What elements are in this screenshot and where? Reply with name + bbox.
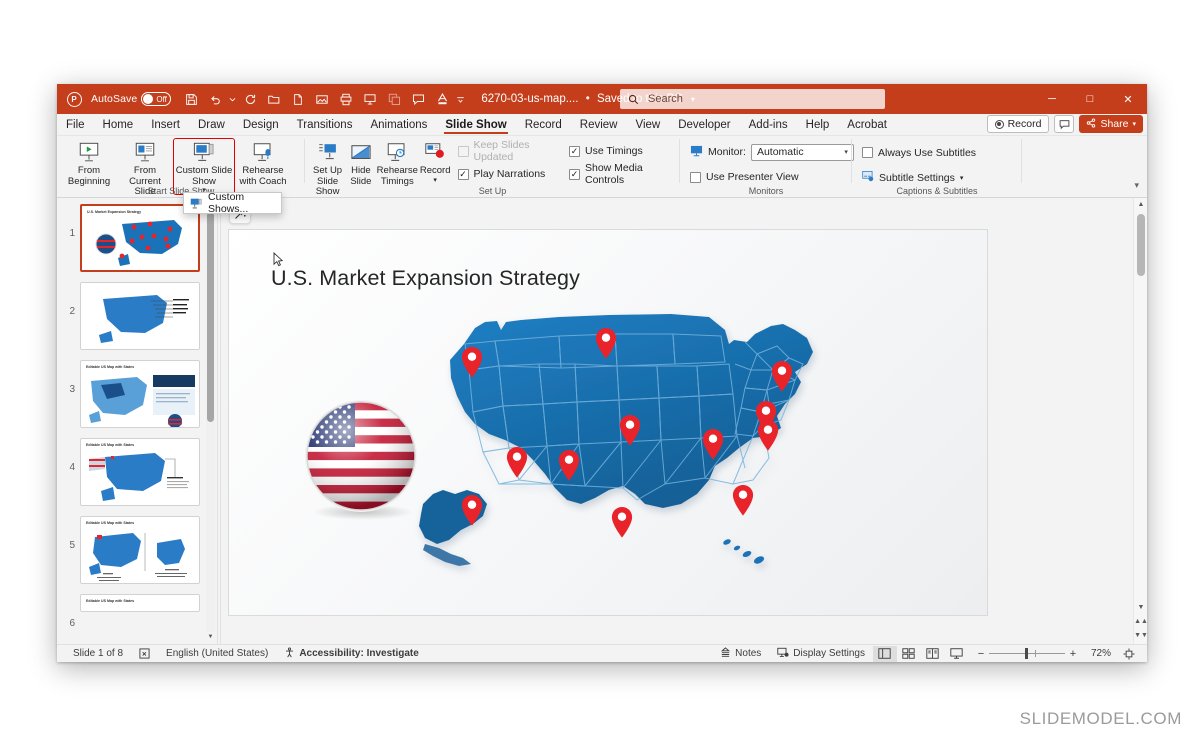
- slidemodel-watermark: SLIDEMODEL.COM: [1020, 709, 1182, 729]
- tab-help[interactable]: Help: [797, 114, 839, 135]
- thumbnail-row[interactable]: 6 Editable US Map with States: [57, 594, 217, 629]
- scroll-down-icon[interactable]: ▼: [1134, 601, 1147, 614]
- slide-thumbnail-pane[interactable]: 1 U.S. Market Expansion Strategy: [57, 198, 217, 644]
- tab-draw[interactable]: Draw: [189, 114, 234, 135]
- new-slide-icon[interactable]: [287, 88, 309, 110]
- thumbnail-slide-6[interactable]: Editable US Map with States: [80, 594, 200, 612]
- show-media-controls-checkbox[interactable]: ✓ Show Media Controls: [569, 165, 676, 183]
- from-beginning-button[interactable]: From Beginning: [61, 138, 117, 188]
- record-button[interactable]: Record: [987, 115, 1050, 133]
- collapse-ribbon-button[interactable]: ▾: [1134, 180, 1139, 191]
- comments-button[interactable]: [1054, 115, 1074, 133]
- rehearse-with-coach-label: Rehearse with Coach: [240, 166, 287, 187]
- tab-acrobat[interactable]: Acrobat: [838, 114, 896, 135]
- tab-add-ins[interactable]: Add-ins: [740, 114, 797, 135]
- close-button[interactable]: ✕: [1109, 84, 1147, 114]
- notes-label: Notes: [735, 648, 761, 659]
- display-settings-icon: [777, 647, 789, 661]
- custom-slide-show-label: Custom Slide Show: [176, 166, 233, 187]
- monitor-label: Monitor:: [708, 146, 746, 158]
- slideshow-current-icon: [133, 141, 157, 163]
- canvas-vertical-scrollbar[interactable]: ▲ ▼ ▲▲ ▼▼: [1133, 198, 1147, 644]
- map-pin: [758, 420, 778, 451]
- rehearse-timings-label: Rehearse Timings: [377, 166, 418, 187]
- slide-editing-surface[interactable]: U.S. Market Expansion Strategy: [229, 230, 987, 615]
- tab-design[interactable]: Design: [234, 114, 288, 135]
- monitor-row: Monitor: Automatic ▾: [690, 143, 854, 162]
- tab-slide-show[interactable]: Slide Show: [436, 114, 515, 135]
- thumbnail-map-icon: [82, 206, 200, 272]
- record-slideshow-icon: [423, 141, 447, 163]
- font-color-icon[interactable]: [431, 88, 453, 110]
- checkbox-box[interactable]: ✓: [569, 146, 580, 157]
- thumbnail-number: 6: [61, 594, 75, 629]
- ribbon-group-monitors: Monitor: Automatic ▾ Use Presenter View …: [680, 136, 852, 197]
- tab-insert[interactable]: Insert: [142, 114, 189, 135]
- thumbnail-slide-3[interactable]: Editable US Map with States: [80, 360, 200, 428]
- tab-file[interactable]: File: [57, 114, 94, 135]
- mouse-cursor-icon: [273, 252, 284, 272]
- fit-to-window-icon[interactable]: [1117, 646, 1141, 662]
- normal-view-icon[interactable]: [873, 646, 897, 662]
- monitor-icon: [690, 145, 703, 160]
- minimize-button[interactable]: ─: [1033, 84, 1071, 114]
- thumbnail-row[interactable]: 2: [57, 282, 217, 350]
- thumbnail-row[interactable]: 4 Editable US Map with States: [57, 438, 217, 506]
- thumbnail-number: 5: [61, 516, 75, 551]
- thumbnail-number: 3: [61, 360, 75, 395]
- search-bar[interactable]: [620, 89, 885, 109]
- thumbnail-map-icon: [81, 361, 200, 428]
- record-button-label: Record: [1008, 118, 1042, 130]
- autosave-label: AutoSave: [91, 93, 137, 105]
- always-use-subtitles-checkbox[interactable]: Always Use Subtitles: [862, 144, 976, 161]
- workspace: 1 U.S. Market Expansion Strategy: [57, 198, 1147, 644]
- thumbnail-title: Editable US Map with States: [86, 599, 134, 603]
- custom-shows-menu-item[interactable]: Custom Shows...: [208, 191, 281, 215]
- checkbox-box[interactable]: [690, 172, 701, 183]
- zoom-track[interactable]: [989, 653, 1065, 654]
- powerpoint-logo-icon: P: [63, 88, 85, 110]
- thumbnail-slide-2[interactable]: [80, 282, 200, 350]
- stopwatch-icon: [385, 141, 409, 163]
- from-beginning-label: From Beginning: [68, 166, 110, 187]
- slide-counter[interactable]: Slide 1 of 8: [65, 646, 131, 662]
- subtitle-settings-button[interactable]: Subtitle Settings ▾: [862, 169, 963, 186]
- notes-icon: [720, 647, 731, 661]
- use-presenter-view-checkbox[interactable]: Use Presenter View: [690, 169, 799, 186]
- tab-developer[interactable]: Developer: [669, 114, 739, 135]
- tab-animations[interactable]: Animations: [361, 114, 436, 135]
- custom-slide-show-dropdown-menu: Custom Shows...: [183, 192, 282, 214]
- coach-icon: [251, 141, 275, 163]
- document-name: 6270-03-us-map....: [481, 93, 578, 105]
- scroll-down-icon[interactable]: ▼: [206, 632, 215, 642]
- previous-slide-button[interactable]: ▲▲: [1134, 615, 1147, 628]
- tab-review[interactable]: Review: [571, 114, 627, 135]
- chevron-down-icon: ▾: [960, 174, 964, 182]
- zoom-out-button[interactable]: −: [973, 648, 989, 660]
- scrollbar-thumb[interactable]: [207, 212, 214, 422]
- custom-shows-icon: [190, 198, 202, 209]
- thumbnail-slide-4[interactable]: Editable US Map with States: [80, 438, 200, 506]
- duplicate-icon: [383, 88, 405, 110]
- ribbon-tab-bar: File Home Insert Draw Design Transitions…: [57, 114, 1147, 136]
- powerpoint-window: P AutoSave Off: [57, 84, 1147, 662]
- next-slide-button[interactable]: ▼▼: [1134, 629, 1147, 642]
- tab-home[interactable]: Home: [94, 114, 143, 135]
- zoom-slider[interactable]: − +: [973, 648, 1081, 660]
- hide-slide-label: Hide Slide: [350, 166, 371, 187]
- autosave-toggle[interactable]: Off: [141, 92, 171, 106]
- use-timings-checkbox[interactable]: ✓ Use Timings: [569, 142, 676, 160]
- always-use-subtitles-label: Always Use Subtitles: [878, 147, 976, 159]
- display-settings-label: Display Settings: [793, 648, 865, 659]
- tab-view[interactable]: View: [627, 114, 670, 135]
- ribbon-right-controls: Record Share ▾: [987, 115, 1143, 133]
- group-label-set-up: Set Up: [305, 186, 680, 197]
- share-button-label: Share: [1100, 118, 1128, 130]
- slide-title-text[interactable]: U.S. Market Expansion Strategy: [271, 266, 580, 291]
- slide-canvas-area: U.S. Market Expansion Strategy: [221, 198, 1147, 644]
- keep-slides-updated-checkbox: Keep Slides Updated: [458, 142, 563, 160]
- accessibility-icon: [284, 647, 295, 661]
- group-label-monitors: Monitors: [680, 186, 852, 197]
- ribbon: From Beginning From Current Slide: [57, 136, 1147, 198]
- map-pin: [612, 507, 632, 538]
- share-chevron-down-icon: ▾: [1132, 120, 1136, 128]
- slideshow-play-icon: [77, 141, 101, 163]
- scroll-up-icon[interactable]: ▲: [1134, 198, 1147, 211]
- save-icon[interactable]: [180, 88, 202, 110]
- map-pin: [733, 485, 753, 516]
- thumbnail-map-icon: [81, 439, 200, 506]
- group-label-captions-subtitles: Captions & Subtitles: [852, 186, 1022, 197]
- display-settings-button[interactable]: Display Settings: [769, 646, 873, 662]
- tab-record[interactable]: Record: [516, 114, 571, 135]
- window-controls: ─ □ ✕: [1033, 84, 1147, 114]
- thumbnail-map-icon: [81, 517, 200, 584]
- ribbon-group-set-up: Set Up Slide Show Hide Slide: [305, 136, 680, 197]
- customize-quick-access-toolbar-icon[interactable]: [455, 88, 466, 110]
- zoom-level[interactable]: 72%: [1085, 646, 1117, 662]
- thumbnail-scrollbar[interactable]: ▲ ▼: [206, 202, 215, 642]
- show-media-controls-label: Show Media Controls: [585, 162, 676, 186]
- autosave-state: Off: [156, 95, 167, 104]
- title-bar: P AutoSave Off: [57, 84, 1147, 114]
- monitor-value: Automatic: [757, 146, 804, 158]
- hide-slide-button[interactable]: Hide Slide: [346, 138, 376, 188]
- checkbox-box[interactable]: ✓: [569, 169, 580, 180]
- checkbox-box[interactable]: [862, 147, 873, 158]
- tab-transitions[interactable]: Transitions: [288, 114, 362, 135]
- subtitle-settings-icon: [862, 170, 874, 185]
- share-icon: [1086, 118, 1096, 131]
- ribbon-group-captions-subtitles: Always Use Subtitles Subtitle Settings ▾…: [852, 136, 1022, 197]
- checkbox-box[interactable]: ✓: [458, 169, 469, 180]
- use-presenter-view-label: Use Presenter View: [706, 171, 799, 183]
- thumbnail-slide-5[interactable]: Editable US Map with States: [80, 516, 200, 584]
- map-pin: [507, 447, 527, 478]
- setup-slideshow-icon: [316, 141, 340, 163]
- slide-sorter-icon[interactable]: [897, 646, 921, 662]
- undo-dropdown-icon[interactable]: [228, 88, 237, 110]
- scrollbar-thumb[interactable]: [1137, 214, 1145, 276]
- start-slideshow-icon[interactable]: [359, 88, 381, 110]
- accessibility-check-icon[interactable]: [131, 646, 158, 662]
- us-flag-globe-icon[interactable]: [301, 398, 425, 522]
- search-input[interactable]: [646, 92, 846, 106]
- open-folder-icon[interactable]: [263, 88, 285, 110]
- maximize-button[interactable]: □: [1071, 84, 1109, 114]
- ribbon-group-start-slide-show: From Beginning From Current Slide: [57, 136, 305, 197]
- checkbox-box: [458, 146, 469, 157]
- chevron-down-icon: ▾: [844, 148, 848, 156]
- thumbnail-slide-1[interactable]: U.S. Market Expansion Strategy: [80, 204, 200, 272]
- record-slideshow-button[interactable]: Record ▾: [419, 138, 452, 185]
- slide-show-icon[interactable]: [945, 646, 969, 662]
- status-bar: Slide 1 of 8 English (United States) Acc…: [57, 644, 1147, 662]
- accessibility-status[interactable]: Accessibility: Investigate: [276, 646, 427, 662]
- us-map[interactable]: [409, 308, 849, 608]
- accessibility-label: Accessibility: Investigate: [299, 648, 419, 659]
- thumbnail-number: 4: [61, 438, 75, 473]
- rehearse-with-coach-button[interactable]: Rehearse with Coach: [235, 138, 291, 188]
- thumbnail-row[interactable]: 3 Editable US Map with States: [57, 360, 217, 428]
- reading-view-icon[interactable]: [921, 646, 945, 662]
- record-slideshow-label: Record: [420, 166, 451, 177]
- thumbnail-row[interactable]: 1 U.S. Market Expansion Strategy: [57, 204, 217, 272]
- rehearse-timings-button[interactable]: Rehearse Timings: [376, 138, 419, 188]
- monitor-select[interactable]: Automatic ▾: [751, 144, 854, 161]
- record-chevron-down-icon[interactable]: ▾: [433, 177, 437, 184]
- thumbnail-number: 2: [61, 282, 75, 317]
- thumbnail-map-icon: [81, 283, 200, 350]
- use-timings-label: Use Timings: [585, 145, 643, 157]
- share-button[interactable]: Share ▾: [1079, 115, 1143, 133]
- custom-slideshow-icon: [191, 141, 217, 163]
- redo-icon[interactable]: [239, 88, 261, 110]
- hide-slide-icon: [349, 141, 373, 163]
- zoom-handle[interactable]: [1025, 648, 1028, 659]
- comment-icon[interactable]: [407, 88, 429, 110]
- thumbnail-number: 1: [61, 204, 75, 239]
- printer-icon[interactable]: [335, 88, 357, 110]
- thumbnail-row[interactable]: 5 Editable US Map with States: [57, 516, 217, 584]
- notes-button[interactable]: Notes: [712, 646, 769, 662]
- undo-icon[interactable]: [204, 88, 226, 110]
- play-narrations-checkbox[interactable]: ✓ Play Narrations: [458, 165, 563, 183]
- language-indicator[interactable]: English (United States): [158, 646, 276, 662]
- record-dot-icon: [995, 120, 1004, 129]
- status-bar-right: Notes Display Settings: [712, 646, 1141, 662]
- search-icon: [628, 94, 639, 105]
- keep-slides-updated-label: Keep Slides Updated: [474, 139, 563, 163]
- subtitle-settings-label: Subtitle Settings: [879, 172, 955, 184]
- picture-icon[interactable]: [311, 88, 333, 110]
- zoom-in-button[interactable]: +: [1065, 648, 1081, 660]
- play-narrations-label: Play Narrations: [474, 168, 546, 180]
